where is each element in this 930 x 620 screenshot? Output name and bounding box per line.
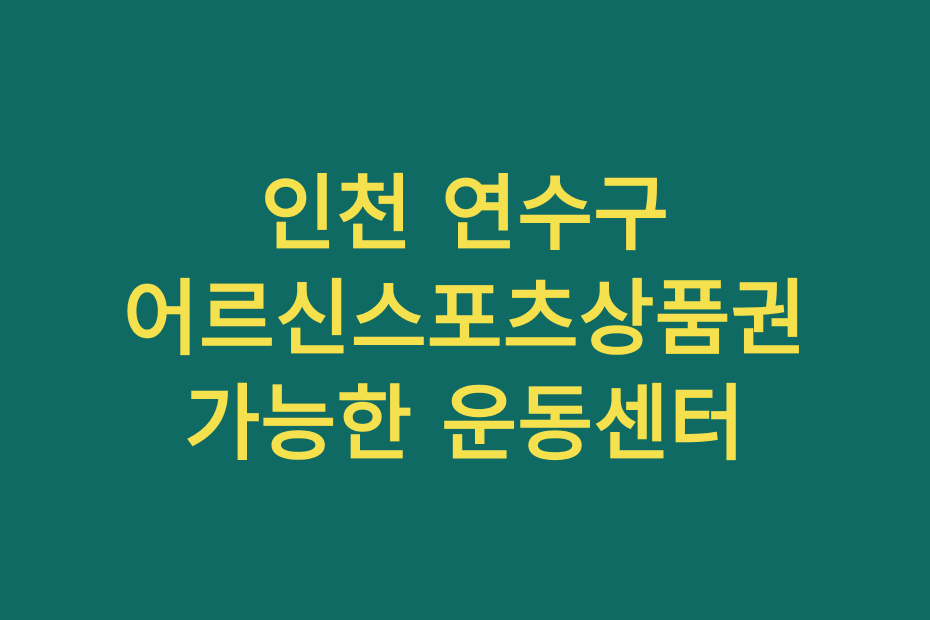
headline-text: 인천 연수구 어르신스포츠상품권 가능한 운동센터 [70, 162, 860, 477]
thumbnail-canvas: 인천 연수구 어르신스포츠상품권 가능한 운동센터 [0, 0, 930, 620]
